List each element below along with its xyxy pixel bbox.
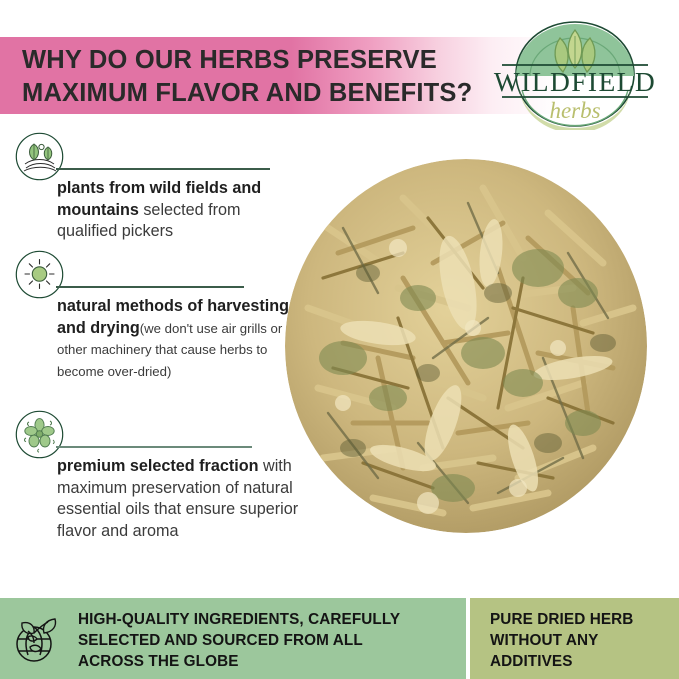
feature-text-3: premium selected fraction with maximum p… bbox=[57, 456, 300, 542]
banner-high-quality: HIGH-QUALITY INGREDIENTS, CAREFULLY SELE… bbox=[0, 598, 466, 679]
brand-logo: WILDFIELD herbs bbox=[489, 18, 661, 130]
feature-divider bbox=[56, 168, 270, 170]
sun-drying-icon bbox=[15, 250, 64, 299]
feature-divider bbox=[56, 286, 244, 288]
field-plants-icon bbox=[15, 132, 64, 181]
logo-brand-text: WILDFIELD bbox=[494, 66, 656, 97]
feature-bold-3: premium selected fraction bbox=[57, 457, 259, 475]
feature-text-1: plants from wild fields and mountains se… bbox=[57, 178, 300, 243]
globe-leaf-icon bbox=[8, 611, 64, 667]
herb-flower-icon bbox=[15, 410, 64, 459]
banner-pure-dried: PURE DRIED HERB WITHOUT ANY ADDITIVES bbox=[470, 598, 679, 679]
feature-divider bbox=[56, 446, 252, 448]
page-title: WHY DO OUR HERBS PRESERVE MAXIMUM FLAVOR… bbox=[22, 44, 492, 109]
banner-left-text: HIGH-QUALITY INGREDIENTS, CAREFULLY SELE… bbox=[78, 609, 400, 672]
logo-sub-text: herbs bbox=[549, 98, 600, 123]
dried-herb-photo bbox=[283, 158, 649, 534]
banner-right-text: PURE DRIED HERB WITHOUT ANY ADDITIVES bbox=[490, 609, 633, 672]
infographic-page: WHY DO OUR HERBS PRESERVE MAXIMUM FLAVOR… bbox=[0, 0, 679, 679]
feature-text-2: natural methods of harvesting and drying… bbox=[57, 296, 300, 382]
